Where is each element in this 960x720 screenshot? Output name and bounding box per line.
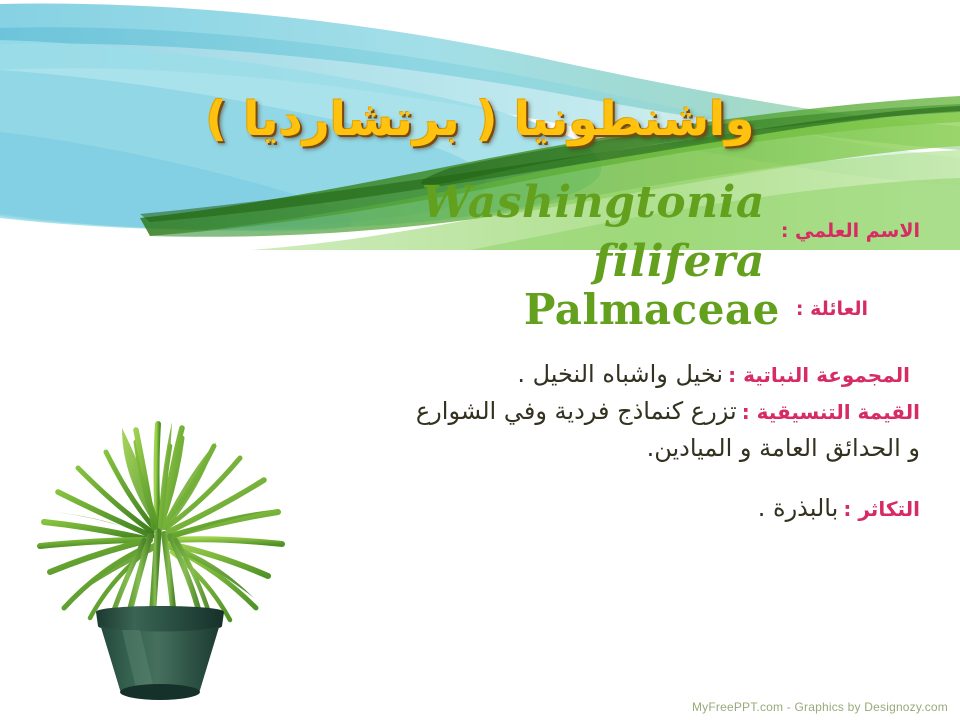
field-propagation: التكاثر : بالبذرة .: [280, 490, 920, 527]
presentation-slide: واشنطونيا ( برتشارديا ) الاسم العلمي : W…: [0, 0, 960, 720]
field-scientific-name: الاسم العلمي : Washingtonia filifera: [280, 196, 920, 268]
scientific-name-label: الاسم العلمي :: [781, 219, 920, 245]
slide-title: واشنطونيا ( برتشارديا ): [0, 92, 960, 147]
plant-info-panel: الاسم العلمي : Washingtonia filifera الع…: [280, 196, 920, 527]
decorative-value-line-2: و الحدائق العامة و الميادين.: [280, 430, 920, 467]
plant-group-label: المجموعة النباتية :: [728, 363, 910, 387]
field-plant-group: المجموعة النباتية : نخيل واشباه النخيل .: [280, 356, 920, 393]
plant-group-value: نخيل واشباه النخيل .: [517, 360, 723, 388]
scientific-name-value: Washingtonia filifera: [280, 173, 765, 292]
family-value: Palmaceae: [524, 282, 780, 339]
propagation-label: التكاثر :: [843, 497, 920, 521]
family-label: العائلة :: [796, 297, 868, 323]
decorative-value-label: القيمة التنسيقية :: [742, 400, 920, 424]
field-decorative-value: القيمة التنسيقية : تزرع كنماذج فردية وفي…: [280, 393, 920, 467]
potted-palm-image: [10, 350, 310, 702]
decorative-value-line-1: تزرع كنماذج فردية وفي الشوارع: [416, 397, 737, 425]
footer-credit: MyFreePPT.com - Graphics by Designozy.co…: [692, 700, 948, 714]
propagation-value: بالبذرة .: [758, 494, 839, 522]
